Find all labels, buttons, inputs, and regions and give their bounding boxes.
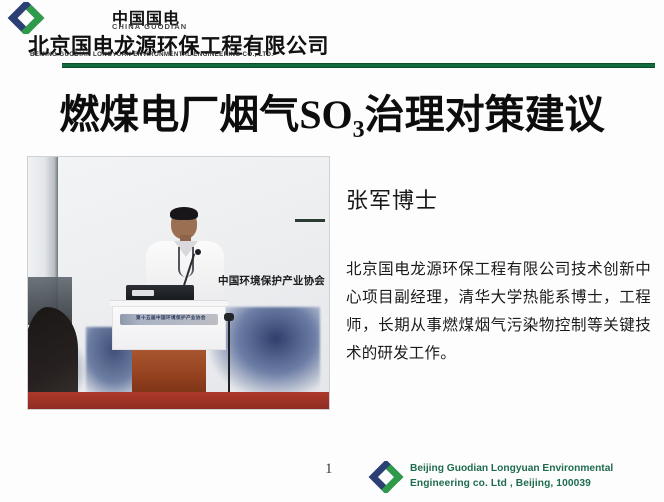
microphone-head-icon bbox=[195, 249, 201, 255]
company-name-en: BEIJING GUODIAN LONGYUAN ENVIRONMENTAL E… bbox=[30, 51, 273, 58]
page-number: 1 bbox=[325, 461, 333, 478]
backdrop-dark-accent bbox=[295, 219, 325, 222]
header-divider bbox=[62, 63, 655, 68]
red-carpet bbox=[28, 392, 329, 409]
podium-banner-text: 第十五届中国环境保护产业协会 bbox=[136, 315, 206, 321]
speaker-hair bbox=[170, 207, 198, 220]
slide-title: 燃煤电厂烟气SO3治理对策建议 bbox=[0, 82, 664, 144]
title-part-2: 治理对策建议 bbox=[365, 92, 605, 138]
footer-company-text: Beijing Guodian Longyuan Environmental E… bbox=[410, 462, 613, 491]
slide-header: 中国国电 CHINA GUODIAN 北京国电龙源环保工程有限公司 BEIJIN… bbox=[0, 0, 664, 70]
title-part-1: 燃煤电厂烟气 bbox=[59, 92, 299, 138]
footer-line-1: Beijing Guodian Longyuan Environmental bbox=[410, 462, 613, 477]
mic-stand-pole bbox=[228, 317, 230, 397]
speaker-photo: 第十五届中国环境保护产业协会 中国环境保护产业协会 bbox=[27, 156, 330, 410]
title-formula-so: SO bbox=[299, 92, 352, 137]
presentation-slide: 中国国电 CHINA GUODIAN 北京国电龙源环保工程有限公司 BEIJIN… bbox=[0, 0, 664, 502]
podium-wooden-base bbox=[132, 350, 206, 394]
title-formula-subscript: 3 bbox=[353, 117, 365, 143]
backdrop-association-text: 中国环境保护产业协会 bbox=[218, 273, 325, 288]
podium-front-panel bbox=[112, 306, 226, 350]
laptop-keyboard bbox=[132, 290, 154, 296]
footer-guodian-diamond-logo-icon bbox=[367, 461, 405, 493]
speaker-bio: 北京国电龙源环保工程有限公司技术创新中心项目副经理，清华大学热能系博士，工程师，… bbox=[346, 255, 651, 367]
guodian-diamond-logo-icon bbox=[6, 2, 46, 32]
speaker-name: 张军博士 bbox=[346, 183, 438, 215]
footer-line-2: Engineering co. Ltd , Beijing, 100039 bbox=[410, 477, 613, 492]
